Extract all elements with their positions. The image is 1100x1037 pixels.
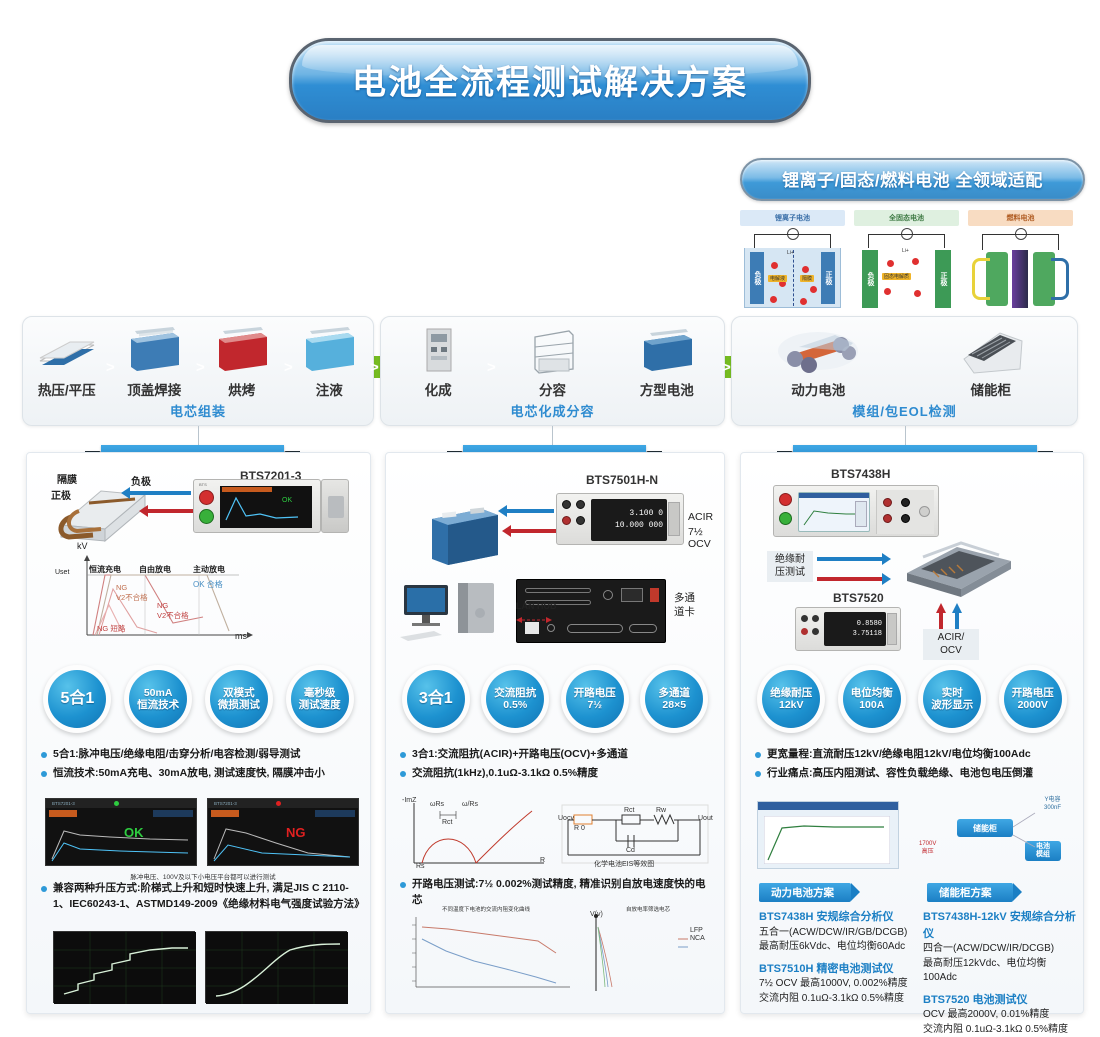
start-button-icon [779,512,792,525]
rct-label: Rct [442,819,453,826]
chart-caption-1: 不同温度下电池的交流内阻变化曲线 [398,905,574,913]
phase-1-label: 恒流充电 [89,564,121,575]
terminal-icon [576,516,585,525]
bubble-line: 波形显示 [931,699,973,711]
bullets-2-column-1: 兼容两种升压方式:阶梯式上升和短时快速上升, 满足JIS C 2110-1、IE… [41,881,360,916]
blue-arrow-icon [817,557,883,561]
omega-over-rs-label: ω/Rs [462,801,478,808]
anode-label: 负极 [750,252,764,304]
bullets-column-2: 3合1:交流阻抗(ACIR)+开路电压(OCV)+多通道 交流阻抗(1kHz),… [400,747,714,785]
bubble-line: 50mA [144,687,173,699]
chevron-right-icon: > [722,359,731,376]
red-arrow-icon [817,577,883,581]
battery-cell-fuel-label: 燃料电池 [968,210,1073,226]
feature-bubbles-column-2: 3合1 交流阻抗0.5% 开路电压7½ 多通道28×5 [386,665,724,733]
reading-primary: 3.100 0 [629,509,663,518]
bullet-dot-icon [755,752,761,758]
omega-rs-label: ωRs [430,801,444,808]
electrolyte-tag: 电解液 [768,275,787,282]
ev-pack-icon [775,321,861,377]
bubble-line: 多通道 [659,687,691,699]
formation-cabinet-icon [407,325,469,375]
chevron-right-icon: > [284,359,293,376]
eis-caption: 化学电池EIS等效图 [594,859,654,869]
process-step-label: 分容 [495,379,609,399]
separator-tag: 隔膜 [800,275,814,282]
bullet-text: 更宽量程:直流耐压12kV/绝缘电阻12kV/电位均衡100Adc [767,747,1031,763]
spec-product-line: 7½ OCV 最高1000V, 0.002%精度 [759,977,917,992]
feature-bubble: 多通道28×5 [640,665,708,733]
bubble-line: 100A [859,699,884,711]
battery-cell-solid-state-label: 全固态电池 [854,210,959,226]
bullet-dot-icon [41,752,47,758]
bullet-item: 恒流技术:50mA充电、30mA放电, 测试速度快, 隔膜冲击小 [41,766,360,782]
device-name-bts7501: BTS7501H-N [586,473,658,487]
page-title-banner: 电池全流程测试解决方案 [0,38,1100,123]
spec-product-title: BTS7438H-12kV 安规综合分析仪 [923,909,1079,942]
solution-column-eol: BTS7438H [740,452,1084,1014]
column-3-illustration: BTS7438H [749,467,1075,657]
process-group-formation: 化成 分容 方型电池 电芯化成分容 [380,316,725,426]
bubble-line: 交流阻抗 [494,687,536,699]
bullet-dot-icon [41,886,47,892]
bubble-line: 开路电压 [1012,687,1054,699]
column-2-illustration: BTS7501H-N 3.100 0 10.000 000 ACIR 7½ OC… [394,467,716,647]
cathode-label: 正极 [51,487,71,502]
waveform-screenshot [757,801,899,869]
terminal-icon [562,516,571,525]
solid-state-cell-diagram-icon: 负极 正极 Li+ 固态电解质 [854,228,959,308]
bubble-line: 开路电压 [574,687,616,699]
nyquist-plot: -ImZ R Rct Rs ωRs ω/Rs [400,797,550,875]
phase-2-label: 自由放电 [139,564,171,575]
nyquist-x-label: R [540,857,545,864]
battery-cell-fuel: 燃料电池 [968,210,1073,308]
bubble-line: 电位均衡 [851,687,893,699]
lithium-cell-diagram-icon: 负极 正极 Li+ 电解液 隔膜 [740,228,845,308]
bullet-dot-icon [400,882,406,888]
bullet-item: 更宽量程:直流耐压12kV/绝缘电阻12kV/电位均衡100Adc [755,747,1073,763]
feature-bubble: 电位均衡100A [838,665,906,733]
instrument-bts7501hn: 3.100 0 10.000 000 [556,493,684,545]
multichannel-card-label: 多通 道卡 [674,591,695,619]
battery-pack-icon [899,539,1019,601]
stop-button-icon [779,493,792,506]
instrument-bts7520: 0.8580 3.75118 [795,607,901,651]
measurement-screenshot-ng: BTS7201-3 NG [207,798,359,866]
prismatic-cell-icon [428,503,506,573]
bubble-big-text: 5合1 [60,690,94,708]
bubble-line: 7½ [587,699,602,711]
ng-v2-label-1: NG V2不合格 [116,583,148,603]
feature-bubble: 双模式微损测试 [205,665,273,733]
x-axis-label: ms [235,631,247,641]
process-group-subtitle: 电芯组装 [23,401,373,420]
blue-arrow-icon [129,491,191,495]
page-title: 电池全流程测试解决方案 [352,64,748,102]
start-button-icon [199,509,214,524]
ramp-waveform-step [53,931,195,1003]
spec-product-line: 最高耐压6kVdc、电位均衡60Adc [759,940,917,955]
battery-types-heading-pill: 锂离子/固态/燃料电池 全领域适配 [740,158,1085,201]
bullet-item: 兼容两种升压方式:阶梯式上升和短时快速上升, 满足JIS C 2110-1、IE… [41,881,360,913]
process-group-eol: 动力电池 储能柜 模组/包EOL检测 [731,316,1078,426]
bullet-item: 3合1:交流阻抗(ACIR)+开路电压(OCV)+多通道 [400,747,714,763]
li-ion-label: Li+ [787,250,794,256]
spec-product-title: BTS7438H 安规综合分析仪 [759,909,917,926]
bullet-item: 开路电压测试:7½ 0.002%测试精度, 精准识别自放电速度快的电芯 [400,877,714,909]
bullet-text: 兼容两种升压方式:阶梯式上升和短时快速上升, 满足JIS C 2110-1、IE… [53,881,360,913]
feature-bubbles-column-1: 5合1 50mA恒流技术 双模式微损测试 毫秒级测试速度 [27,665,370,733]
feature-bubble: 50mA恒流技术 [124,665,192,733]
process-step-label: 热压/平压 [23,379,111,399]
process-flow-row: 热压/平压 顶盖焊接 烘烤 注液 电芯组装 > [0,316,1100,426]
bullet-text: 恒流技术:50mA充电、30mA放电, 测试速度快, 隔膜冲击小 [53,766,325,782]
instrument-screen: 3.100 0 10.000 000 [591,499,667,541]
bullet-text: 5合1:脉冲电压/绝缘电阻/击穿分析/电容检测/弱导测试 [53,747,300,763]
equivalent-circuit-diagram: R 0 Rct Rw Cd Uocv Uout 化学电池EIS等效图 [558,797,712,875]
bullet-item: 行业痛点:高压内阻测试、容性负载绝缘、电池包电压倒灌 [755,766,1073,782]
bullet-dot-icon [41,771,47,777]
bubble-line: 2000V [1018,699,1048,711]
chevron-right-icon: > [370,359,379,376]
bullet-text: 行业痛点:高压内阻测试、容性负载绝缘、电池包电压倒灌 [767,766,1033,782]
bullet-item: 交流阻抗(1kHz),0.1uΩ-3.1kΩ 0.5%精度 [400,766,714,782]
terminal-icon [562,500,571,509]
bullet-item: 5合1:脉冲电压/绝缘电阻/击穿分析/电容检测/弱导测试 [41,747,360,763]
ramp-waveform-fast [205,931,347,1003]
prismatic-cell-icon [636,325,698,375]
li-ion-label: Li+ [902,248,909,254]
bubble-line: 微损测试 [218,699,260,711]
separator-label: 隔膜 [57,471,77,486]
instrument-bts7201-3: BTS OK [193,479,321,533]
nyquist-y-label: -ImZ [402,797,416,804]
solution-column-screening: BTS7501H-N 3.100 0 10.000 000 ACIR 7½ OC… [385,452,725,1014]
r0-label: R 0 [574,825,585,832]
measurement-screenshot-ok: BTS7201-3 OK [45,798,197,866]
lan-hub-label: LAN HUB [516,601,557,611]
ocv-label: 7½ OCV [688,526,716,550]
battery-types-panel: 锂离子/固态/燃料电池 全领域适配 锂离子电池 负极 正极 Li+ 电解液 隔膜 [740,158,1085,308]
spec-product-line: 四合一(ACW/DCW/IR/DCGB) [923,942,1079,957]
feature-bubble: 绝缘耐压12kV [757,665,825,733]
reading-secondary: 3.75118 [853,630,882,638]
spec-product-title: BTS7520 电池测试仪 [923,992,1079,1009]
instrument-bts7438h [773,485,939,537]
feature-bubble: 3合1 [402,665,470,733]
instrument-screen: OK [220,486,312,528]
fuel-cell-diagram-icon [968,228,1073,308]
lan-link-arrow-icon [516,615,552,625]
solid-electrolyte-tag: 固态电解质 [882,273,911,280]
red-arrow-icon [510,529,556,533]
battery-type-cells: 锂离子电池 负极 正极 Li+ 电解液 隔膜 全固态电池 [740,210,1085,308]
hipot-test-label: 绝缘耐 压测试 [767,551,813,582]
bubble-line: 毫秒级 [304,687,336,699]
baking-icon [211,325,273,375]
spec-tag-ess: 储能柜方案 [927,883,1013,902]
cathode-label: 正极 [821,252,835,304]
feature-bubble: 交流阻抗0.5% [481,665,549,733]
red-arrow-icon [147,509,195,513]
anode-label: 负极 [862,250,878,308]
rs-label: Rs [416,863,425,870]
bullet-text: 开路电压测试:7½ 0.002%测试精度, 精准识别自放电速度快的电芯 [412,877,714,909]
bullets-column-3: 更宽量程:直流耐压12kV/绝缘电阻12kV/电位均衡100Adc 行业痛点:高… [755,747,1073,785]
instrument-side-module [321,479,349,533]
uout-label: Uout [698,815,713,822]
bubble-line: 12kV [779,699,804,711]
title-pill: 电池全流程测试解决方案 [289,38,811,123]
feature-bubble: 开路电压7½ [561,665,629,733]
cd-label: Cd [626,847,635,854]
spec-product-line: 最高耐压12kVdc、电位均衡100Adc [923,957,1079,986]
spec-product-line: OCV 最高2000V, 0.01%精度 [923,1008,1079,1023]
computer-icon [400,579,510,645]
instrument-screen: 0.8580 3.75118 [824,612,886,646]
screenshot-caption: 脉冲电压、100V及以下小电压平台都可以进行测试 [45,871,361,881]
process-step-label: 注液 [286,379,374,399]
grading-rack-icon [521,325,583,375]
battery-cell-solid-state: 全固态电池 负极 正极 Li+ 固态电解质 [854,210,959,308]
chevron-right-icon: > [487,359,496,376]
uocv-label: Uocv [558,815,574,822]
legend-item: LFP [690,927,703,934]
process-step-label: 方型电池 [610,379,724,399]
bullet-dot-icon [400,771,406,777]
uset-label: Uset [55,569,69,576]
chevron-right-icon: > [106,359,115,376]
electrolyte-fill-icon [298,325,360,375]
spec-group-ess: BTS7438H-12kV 安规综合分析仪 四合一(ACW/DCW/IR/DCG… [923,909,1079,1037]
reading-primary: 0.8580 [857,620,882,628]
bubble-line: 绝缘耐压 [770,687,812,699]
flat-press-icon [36,325,98,375]
svg-text:OK: OK [282,497,292,504]
stop-button-icon [199,490,214,505]
spec-product-line: 交流内阻 0.1uΩ-3.1kΩ 0.5%精度 [923,1023,1079,1037]
spec-product-line: 交流内阻 0.1uΩ-3.1kΩ 0.5%精度 [759,992,917,1007]
column-1-illustration: BTS7201-3 隔膜 正极 负极 BTS OK [35,467,362,647]
spec-tag-ev: 动力电池方案 [759,883,851,902]
legend-item: NCA [690,935,705,942]
acir-label: ACIR [688,511,713,523]
ng-short-label: NG 短路 [97,623,125,634]
ess-cabinet-icon [954,325,1028,379]
reading-secondary: 10.000 000 [615,521,663,530]
feature-bubbles-column-3: 绝缘耐压12kV 电位均衡100A 实时波形显示 开路电压2000V [741,665,1083,733]
bubble-line: 28×5 [662,699,686,711]
battery-cell-lithium-label: 锂离子电池 [740,210,845,226]
spec-group-ev: BTS7438H 安规综合分析仪 五合一(ACW/DCW/IR/GB/DCGB)… [759,909,917,1006]
process-step-label: 烘烤 [198,379,286,399]
feature-bubble: 实时波形显示 [918,665,986,733]
spec-product-title: BTS7510H 精密电池测试仪 [759,961,917,978]
verdict-ok: OK [124,825,144,840]
bullet-text: 交流阻抗(1kHz),0.1uΩ-3.1kΩ 0.5%精度 [412,766,598,782]
process-step-label: 动力电池 [732,379,905,399]
process-step-label: 储能柜 [905,379,1078,399]
process-group-subtitle: 电芯化成分容 [381,401,724,420]
feature-bubble: 5合1 [43,665,111,733]
bubble-line: 0.5% [503,699,527,711]
ess-capacitance-illustration: Y电容 300nF 储能柜 1700V 高压 电池 模组 [917,797,1067,873]
ok-label: OK 合格 [193,579,223,590]
solution-column-insulation: BTS7201-3 隔膜 正极 负极 BTS OK [26,452,371,1014]
multichannel-card-unit [516,579,666,643]
cathode-label: 正极 [935,250,951,308]
anode-label: 负极 [131,473,151,488]
acir-ocv-label: ACIR/ OCV [923,629,979,660]
temperature-resistance-chart: 不同温度下电池的交流内阻变化曲线 [398,905,574,1001]
rct-label: Rct [624,807,635,814]
bullets-column-1: 5合1:脉冲电压/绝缘电阻/击穿分析/电容检测/弱导测试 恒流技术:50mA充电… [41,747,360,785]
process-group-subtitle: 模组/包EOL检测 [732,401,1077,420]
self-discharge-chart: 自放电率筛选电芯 V(v) LFP NCA [582,905,714,1001]
chevron-right-icon: > [196,359,205,376]
bubble-line: 恒流技术 [137,699,179,711]
battery-cell-lithium: 锂离子电池 负极 正极 Li+ 电解液 隔膜 [740,210,845,308]
ng-v2-label-2: NG V2不合格 [157,601,189,621]
insulation-test-waveform-chart: kV ms Uset 恒流充电 自由放电 主动放电 OK 合格 NG V2不合格… [53,553,258,645]
bullet-text: 3合1:交流阻抗(ACIR)+开路电压(OCV)+多通道 [412,747,628,763]
bubble-line: 测试速度 [299,699,341,711]
feature-bubble: 毫秒级测试速度 [286,665,354,733]
blue-arrow-icon [506,509,554,513]
process-step-label: 顶盖焊接 [111,379,199,399]
verdict-ng: NG [286,825,306,840]
bubble-line: 双模式 [223,687,255,699]
feature-bubble: 开路电压2000V [999,665,1067,733]
process-step-label: 化成 [381,379,495,399]
battery-types-heading: 锂离子/固态/燃料电池 全领域适配 [782,171,1043,190]
rw-label: Rw [656,807,666,814]
device-name-bts7438h: BTS7438H [831,467,890,481]
bullet-dot-icon [400,752,406,758]
bubble-line: 实时 [942,687,963,699]
bubble-big-text: 3合1 [419,690,453,708]
spec-product-line: 五合一(ACW/DCW/IR/GB/DCGB) [759,926,917,941]
y-axis-label: kV [77,541,88,551]
top-cover-weld-icon [123,325,185,375]
device-name-bts7520: BTS7520 [833,591,884,605]
phase-3-label: 主动放电 [193,564,225,575]
bullet-dot-icon [755,771,761,777]
instrument-screen [798,492,870,532]
terminal-icon [576,500,585,509]
